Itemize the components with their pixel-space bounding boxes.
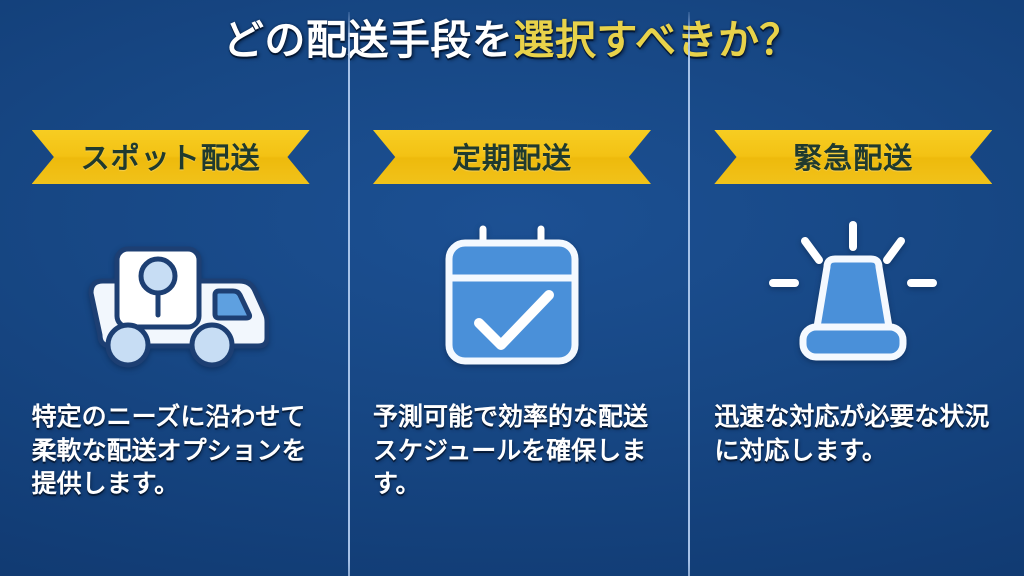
- description-spot-delivery: 特定のニーズに沿わせて柔軟な配送オプションを提供します。: [0, 400, 341, 501]
- description-emergency-delivery: 迅速な対応が必要な状況に対応します。: [683, 400, 1024, 467]
- description-text: 特定のニーズに沿わせて柔軟な配送オプションを提供します。: [32, 400, 310, 501]
- icon-delivery-truck-tracking: [0, 210, 341, 380]
- column-spot-delivery: スポット配送: [0, 118, 341, 576]
- title-gold-segment: 選択すべきか？: [513, 16, 801, 64]
- title-text: どの配送手段を選択すべきか？: [223, 20, 801, 61]
- ribbon-shape: スポット配送: [32, 130, 310, 184]
- banner-label: スポット配送: [81, 135, 261, 177]
- banner-spot-delivery[interactable]: スポット配送: [0, 130, 341, 184]
- description-text: 迅速な対応が必要な状況に対応します。: [714, 400, 992, 467]
- page-title: どの配送手段を選択すべきか？: [0, 20, 1024, 61]
- description-scheduled-delivery: 予測可能で効率的な配送スケジュールを確保します。: [341, 400, 682, 501]
- banner-label: 定期配送: [452, 135, 572, 177]
- infographic-slide: どの配送手段を選択すべきか？ スポット配送: [0, 0, 1024, 576]
- title-white-segment: どの配送手段を: [223, 16, 514, 64]
- ribbon-shape: 定期配送: [373, 130, 651, 184]
- column-scheduled-delivery: 定期配送 予測可能で効率的な配送スケジュールを確保します。: [341, 118, 682, 576]
- delivery-truck-tracking-icon: [73, 219, 269, 371]
- banner-scheduled-delivery[interactable]: 定期配送: [341, 130, 682, 184]
- ribbon-shape: 緊急配送: [714, 130, 992, 184]
- banner-label: 緊急配送: [793, 135, 913, 177]
- emergency-beacon-light-icon: [765, 219, 941, 371]
- banner-emergency-delivery[interactable]: 緊急配送: [683, 130, 1024, 184]
- calendar-check-icon: [437, 219, 587, 371]
- columns-container: スポット配送: [0, 118, 1024, 576]
- icon-calendar-check: [341, 210, 682, 380]
- icon-emergency-beacon-light: [683, 210, 1024, 380]
- description-text: 予測可能で効率的な配送スケジュールを確保します。: [373, 400, 651, 501]
- column-emergency-delivery: 緊急配送 迅速な対応が必要な状況に対応します。: [683, 118, 1024, 576]
